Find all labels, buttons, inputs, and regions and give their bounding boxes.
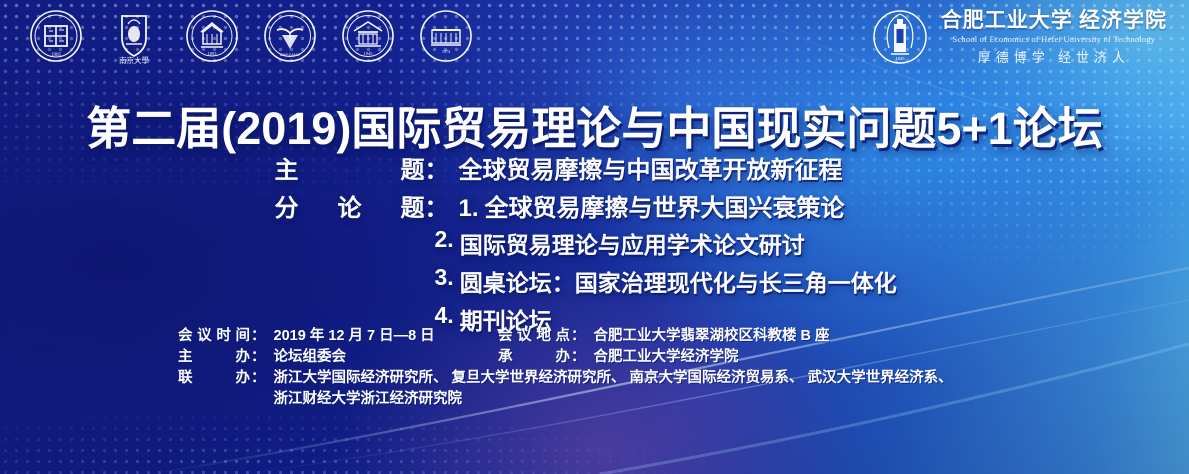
sub-topic-header-row: 分 论 题 ： 1.全球贸易摩擦与世界大国兴衰策论 (275, 188, 915, 223)
svg-text:南京大學: 南京大學 (119, 55, 149, 64)
undertaker-row: 承 办 ： 合肥工业大学经济学院 (498, 347, 1149, 368)
meeting-time-label: 会议时间 (178, 326, 250, 347)
svg-text:1905: 1905 (51, 53, 62, 58)
meeting-place-row: 会议地点 ： 合肥工业大学翡翠湖校区科教楼 B 座 (498, 326, 1149, 347)
host-name-en: School of Economics of Hefei University … (953, 35, 1156, 44)
meeting-place-colon: ： (571, 326, 586, 347)
meeting-place-label: 会议地点 (498, 326, 570, 347)
meeting-time-value: 2019 年 12 月 7 日—8 日 (274, 326, 435, 347)
undertaker-value: 合肥工业大学经济学院 (594, 347, 739, 368)
fudan-university-logo: 1905 (28, 8, 84, 64)
zhejiang-university-logo: ZHEJIANG (262, 8, 318, 64)
undertaker-label: 承 办 (498, 347, 570, 368)
sub-topic-item-2: 2.国际贸易理论与应用学术论文研讨 (275, 226, 915, 260)
sub-topic-num-2: 2. (435, 226, 454, 260)
nanjing-university-logo: 南京大學 (106, 8, 162, 64)
partner-logo-bar: 1905 南京大學 1893 (28, 8, 474, 64)
sub-topic-item-3: 3.圆桌论坛：国家治理现代化与长三角一体化 (275, 264, 915, 298)
organizer-label: 主 办 (178, 347, 250, 368)
undertaker-colon: ： (571, 347, 586, 368)
organizer-colon: ： (251, 347, 266, 368)
sub-topic-text-1: 全球贸易摩擦与世界大国兴衰策论 (485, 195, 845, 222)
hefei-university-of-technology-logo: 1945 (340, 8, 396, 64)
sub-topic-text-2: 国际贸易理论与应用学术论文研讨 (460, 226, 805, 260)
main-topic-row: 主 题 ： 全球贸易摩擦与中国改革开放新征程 (275, 150, 915, 185)
main-topic-value: 全球贸易摩擦与中国改革开放新征程 (459, 150, 843, 185)
host-institution-logo: 1945 合肥工业大学 经济学院 School of Economics of … (871, 8, 1167, 66)
svg-text:1974: 1974 (442, 49, 450, 54)
sub-topic-item-1: 1.全球贸易摩擦与世界大国兴衰策论 (459, 188, 845, 223)
organizer-row: 主 办 ： 论坛组委会 (178, 347, 468, 368)
sub-topic-colon: ： (425, 188, 449, 223)
conference-info-block: 会议时间 ： 2019 年 12 月 7 日—8 日 会议地点 ： 合肥工业大学… (178, 326, 1149, 410)
sub-topic-text-3: 圆桌论坛：国家治理现代化与长三角一体化 (460, 264, 897, 298)
svg-text:1945: 1945 (364, 51, 374, 56)
conference-info-grid: 会议时间 ： 2019 年 12 月 7 日—8 日 会议地点 ： 合肥工业大学… (178, 326, 1149, 410)
hefei-university-of-technology-emblem: 1945 (871, 8, 929, 66)
sub-topic-num-1: 1. (459, 195, 479, 222)
meeting-time-colon: ： (251, 326, 266, 347)
co-organizer-values: 浙江大学国际经济研究所、 复旦大学世界经济研究所、 南京大学国际经济贸易系、 武… (274, 368, 953, 410)
svg-text:1945: 1945 (895, 56, 905, 61)
host-institution-text: 合肥工业大学 经济学院 School of Economics of Hefei… (941, 10, 1167, 64)
meeting-place-value: 合肥工业大学翡翠湖校区科教楼 B 座 (594, 326, 830, 347)
conference-banner: 1905 南京大學 1893 (0, 0, 1189, 474)
co-organizer-line-2: 浙江财经大学浙江经济研究院 (274, 389, 953, 410)
wuhan-university-logo: 1893 (184, 8, 240, 64)
svg-text:1893: 1893 (208, 51, 218, 56)
main-topic-label: 主 题 (275, 150, 425, 185)
co-organizer-label: 联 办 (178, 368, 250, 389)
svg-text:ZHEJIANG: ZHEJIANG (280, 52, 300, 57)
organizer-value: 论坛组委会 (274, 347, 347, 368)
co-organizer-row: 联 办 ： 浙江大学国际经济研究所、 复旦大学世界经济研究所、 南京大学国际经济… (178, 368, 1149, 410)
topics-block: 主 题 ： 全球贸易摩擦与中国改革开放新征程 分 论 题 ： 1.全球贸易摩擦与… (0, 150, 1189, 340)
co-organizer-line-1: 浙江大学国际经济研究所、 复旦大学世界经济研究所、 南京大学国际经济贸易系、 武… (274, 368, 953, 389)
co-organizer-colon: ： (251, 368, 266, 389)
sub-topic-label: 分 论 题 (275, 188, 425, 223)
banner-title: 第二届(2019)国际贸易理论与中国现实问题5+1论坛 (0, 92, 1189, 157)
meeting-time-row: 会议时间 ： 2019 年 12 月 7 日—8 日 (178, 326, 468, 347)
zhejiang-university-of-finance-economics-logo: 1974 (418, 8, 474, 64)
main-topic-colon: ： (425, 150, 449, 185)
host-name-cn: 合肥工业大学 经济学院 (941, 10, 1167, 31)
sub-topic-num-3: 3. (435, 264, 454, 298)
host-motto: 厚德博学 经世济人 (978, 51, 1130, 64)
